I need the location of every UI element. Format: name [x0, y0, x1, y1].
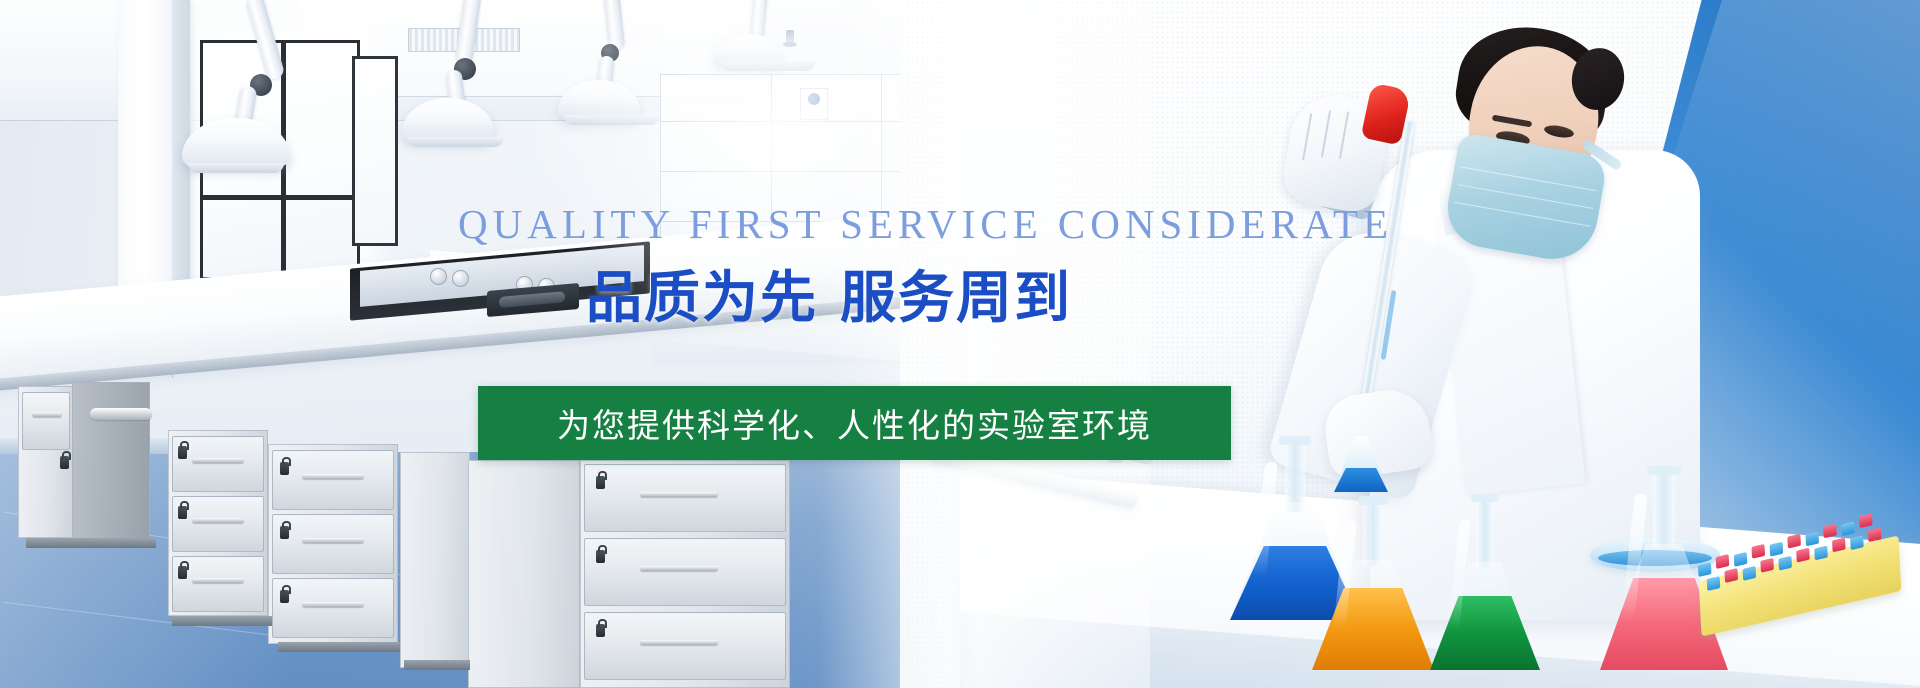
headline-part-2: 服务周到 [840, 266, 1072, 331]
banner-subtitle-bar: 为您提供科学化、人性化的实验室环境 [478, 386, 1231, 460]
banner-subtitle-text: 为您提供科学化、人性化的实验室环境 [557, 399, 1152, 447]
headline-part-1: 品质为先 [586, 266, 818, 331]
banner-headline: 品质为先服务周到 [586, 253, 1072, 334]
banner-eyebrow-text: QUALITY FIRST SERVICE CONSIDERATE [458, 200, 1393, 248]
banner-text-overlay: QUALITY FIRST SERVICE CONSIDERATE 品质为先服务… [0, 0, 1920, 688]
hero-banner: QUALITY FIRST SERVICE CONSIDERATE 品质为先服务… [0, 0, 1920, 688]
